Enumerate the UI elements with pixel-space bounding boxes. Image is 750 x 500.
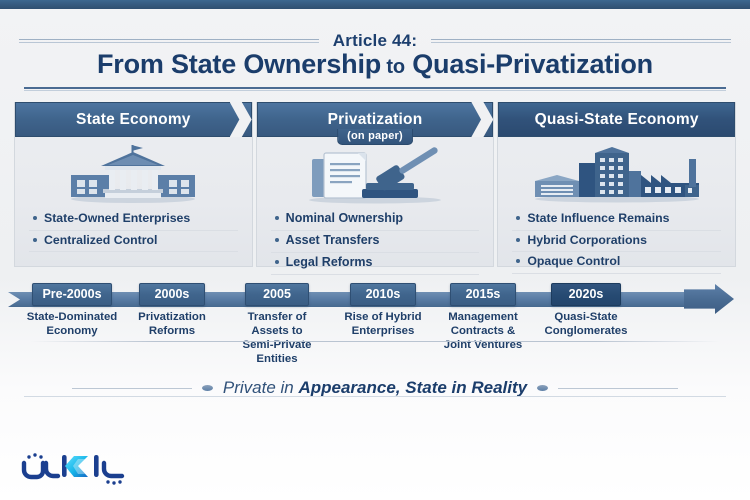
list-item: Nominal Ownership: [271, 209, 480, 231]
list-item: Hybrid Corporations: [512, 231, 721, 253]
panel-body: State Influence Remains Hybrid Corporati…: [498, 137, 735, 274]
title-underline: [24, 87, 726, 91]
tagline-lead: Private in: [223, 378, 299, 397]
timeline-label: Rise of HybridEnterprises: [344, 311, 421, 339]
bullet-dot-icon: [516, 238, 520, 242]
list-item: Opaque Control: [512, 252, 721, 274]
panel-privatization: Privatization (on paper): [256, 102, 495, 267]
timeline-label: PrivatizationReforms: [138, 311, 206, 339]
timeline-year: 2000s: [139, 283, 205, 306]
tagline: Private in Appearance, State in Reality: [223, 378, 527, 398]
timeline-item-2020s: 2020s Quasi-StateConglomerates: [536, 283, 636, 339]
timeline-item-2005: 2005 Transfer ofAssets toSemi-Private En…: [222, 283, 332, 367]
tagline-rule-left: [72, 388, 192, 389]
timeline-label: Transfer ofAssets toSemi-Private Entitie…: [222, 311, 332, 367]
top-accent-bar: [0, 0, 750, 9]
panel-heading-state-economy: State Economy: [15, 102, 252, 137]
panel-bullets: State-Owned Enterprises Centralized Cont…: [29, 209, 238, 252]
bullet-label: Hybrid Corporations: [527, 232, 647, 249]
panel-heading-label: Privatization: [328, 111, 423, 129]
timeline-item-pre-2000s: Pre-2000s State-DominatedEconomy: [24, 283, 120, 339]
bullet-dot-icon: [275, 260, 279, 264]
tagline-emphasis: Appearance, State in Reality: [298, 378, 527, 397]
documents-gavel-icon: [265, 143, 486, 205]
bullet-label: State Influence Remains: [527, 210, 669, 227]
city-factory-skyline-icon: [506, 143, 727, 205]
chevron-right-icon: [471, 102, 493, 137]
bullet-label: Centralized Control: [44, 232, 157, 249]
list-item: Legal Reforms: [271, 253, 480, 275]
list-item: Centralized Control: [29, 231, 238, 253]
tagline-rule-right: [558, 388, 678, 389]
diamond-marker-icon: [202, 385, 213, 391]
government-building-icon: [23, 143, 244, 205]
panel-heading-privatization: Privatization (on paper): [257, 102, 494, 137]
page-title-main: From State Ownership: [97, 49, 381, 79]
bullet-label: State-Owned Enterprises: [44, 210, 190, 227]
infographic-canvas: Article 44: From State Ownership to Quas…: [0, 0, 750, 500]
panel-bullets: Nominal Ownership Asset Transfers Legal …: [271, 209, 480, 275]
panel-heading-label: State Economy: [76, 111, 191, 129]
panel-bullets: State Influence Remains Hybrid Corporati…: [512, 209, 721, 274]
timeline-item-2015s: 2015s ManagementContracts &Joint Venture…: [434, 283, 532, 353]
diamond-marker-icon: [537, 385, 548, 391]
bullet-label: Opaque Control: [527, 253, 620, 270]
timeline-year: 2010s: [350, 283, 416, 306]
bullet-label: Nominal Ownership: [286, 210, 403, 227]
bullet-label: Legal Reforms: [286, 254, 373, 271]
timeline-item-2010s: 2010s Rise of HybridEnterprises: [336, 283, 430, 339]
timeline-item-2000s: 2000s PrivatizationReforms: [126, 283, 218, 339]
bullet-label: Asset Transfers: [286, 232, 380, 249]
padanesh-logo-mark: [18, 447, 130, 489]
title-block: Article 44: From State Ownership to Quas…: [0, 9, 750, 89]
chevron-right-icon: [230, 102, 252, 137]
list-item: State-Owned Enterprises: [29, 209, 238, 231]
tagline-row: Private in Appearance, State in Reality: [0, 373, 750, 403]
timeline: Pre-2000s State-DominatedEconomy 2000s P…: [0, 283, 750, 363]
timeline-label: Quasi-StateConglomerates: [545, 311, 628, 339]
bullet-dot-icon: [33, 216, 37, 220]
panel-heading-quasi-state-economy: Quasi-State Economy: [498, 102, 735, 137]
page-title-conj: to: [386, 56, 404, 78]
padanesh-logo: [18, 448, 130, 488]
timeline-label: State-DominatedEconomy: [27, 311, 118, 339]
page-title-tail: Quasi-Privatization: [412, 49, 653, 79]
panel-body: State-Owned Enterprises Centralized Cont…: [15, 137, 252, 252]
timeline-baseline: [30, 341, 720, 342]
timeline-year: 2020s: [551, 283, 621, 306]
tagline-baseline: [24, 396, 726, 397]
timeline-milestones: Pre-2000s State-DominatedEconomy 2000s P…: [0, 283, 750, 363]
timeline-year: Pre-2000s: [32, 283, 112, 306]
bullet-dot-icon: [516, 259, 520, 263]
stage-panels: State Economy: [14, 102, 736, 267]
list-item: Asset Transfers: [271, 231, 480, 253]
bullet-dot-icon: [516, 216, 520, 220]
panel-quasi-state-economy: Quasi-State Economy: [497, 102, 736, 267]
timeline-year: 2015s: [450, 283, 516, 306]
article-eyebrow: Article 44:: [333, 31, 417, 51]
on-paper-badge: (on paper): [337, 129, 413, 145]
eyebrow-rule-right: [431, 38, 731, 45]
eyebrow-row: Article 44:: [0, 31, 750, 51]
page-title: From State Ownership to Quasi-Privatizat…: [0, 49, 750, 80]
list-item: State Influence Remains: [512, 209, 721, 231]
eyebrow-rule-left: [19, 38, 319, 45]
bullet-dot-icon: [275, 216, 279, 220]
timeline-label: ManagementContracts &Joint Ventures: [444, 311, 523, 353]
bullet-dot-icon: [275, 238, 279, 242]
panel-state-economy: State Economy: [14, 102, 253, 267]
timeline-year: 2005: [245, 283, 309, 306]
panel-body: Nominal Ownership Asset Transfers Legal …: [257, 137, 494, 275]
bullet-dot-icon: [33, 238, 37, 242]
panel-heading-label: Quasi-State Economy: [535, 111, 699, 129]
